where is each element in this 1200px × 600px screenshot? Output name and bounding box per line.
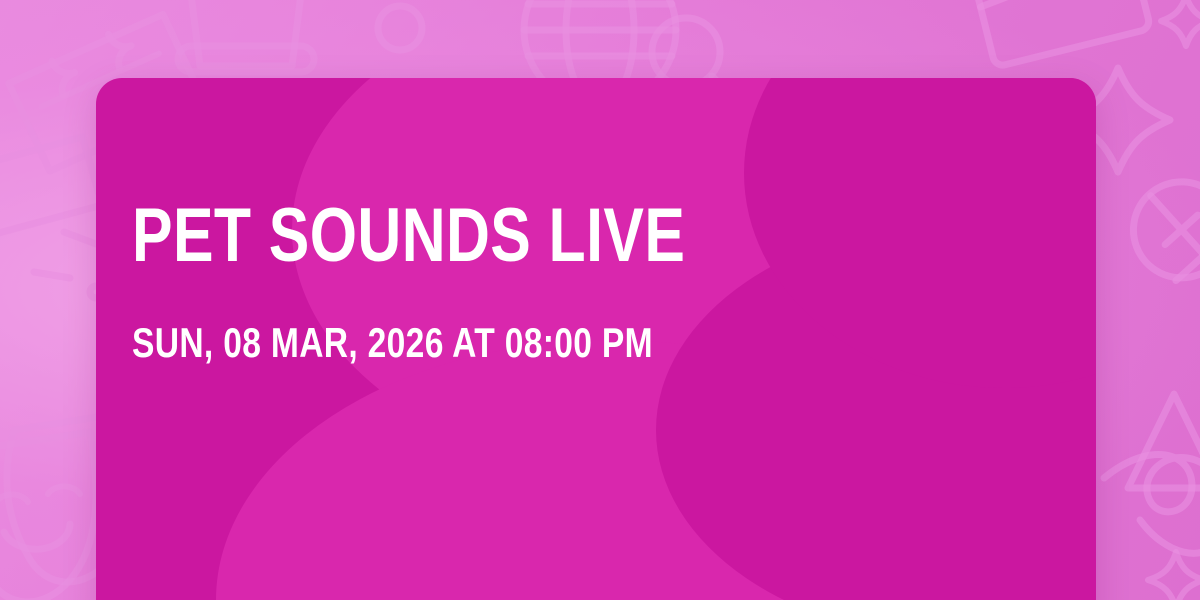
star-outline-icon	[1148, 552, 1200, 600]
popcorn-cup-icon	[178, 0, 314, 72]
event-datetime: SUN, 08 MAR, 2026 AT 08:00 PM	[132, 320, 871, 366]
swirl-curl-icon	[1104, 454, 1200, 553]
confetti-dash-icon	[34, 232, 102, 298]
ticket-icon	[0, 136, 104, 236]
ring-circle-icon	[378, 6, 422, 50]
event-card[interactable]: PET SOUNDS LIVE SUN, 08 MAR, 2026 AT 08:…	[96, 78, 1096, 600]
clapperboard-icon	[971, 0, 1151, 67]
sparkle-star-icon	[1161, 0, 1200, 46]
event-text-block: PET SOUNDS LIVE SUN, 08 MAR, 2026 AT 08:…	[132, 196, 1056, 366]
event-banner: PET SOUNDS LIVE SUN, 08 MAR, 2026 AT 08:…	[0, 0, 1200, 600]
event-title: PET SOUNDS LIVE	[132, 196, 871, 276]
microphone-icon	[1114, 162, 1200, 354]
